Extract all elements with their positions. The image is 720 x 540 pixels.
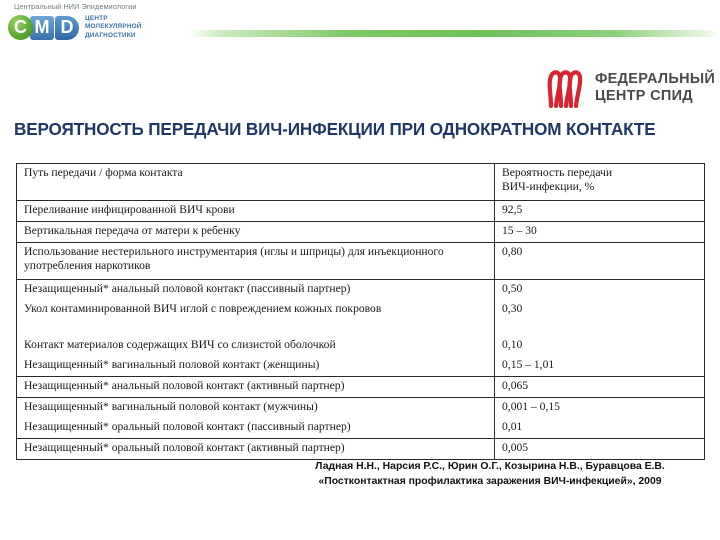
- aids-ribbon-icon: [545, 68, 587, 108]
- federal-aids-center-logo: ФЕДЕРАЛЬНЫЙ ЦЕНТР СПИД: [545, 68, 715, 108]
- cmd-logo-block: Центральный НИИ Эпидемиологии C M D ЦЕНТ…: [8, 2, 186, 52]
- citation-source: «Постконтактная профилактика заражения В…: [268, 474, 712, 489]
- table-row: Незащищенный* анальный половой контакт (…: [17, 280, 705, 301]
- column-header-route: Путь передачи / форма контакта: [17, 164, 495, 201]
- table-header-row: Путь передачи / форма контакта Вероятнос…: [17, 164, 705, 201]
- federal-center-text: ФЕДЕРАЛЬНЫЙ ЦЕНТР СПИД: [595, 71, 715, 105]
- cmd-letters: C M D: [8, 15, 79, 40]
- table-row: Укол контаминированной ВИЧ иглой с повре…: [17, 300, 705, 336]
- table-row: Контакт материалов содержащих ВИЧ со сли…: [17, 336, 705, 356]
- cell-probability: 0,01: [495, 418, 705, 439]
- table-row: Незащищенный* оральный половой контакт (…: [17, 418, 705, 439]
- cell-probability: 0,80: [495, 243, 705, 280]
- cell-probability: 92,5: [495, 201, 705, 222]
- cell-route: Вертикальная передача от матери к ребенк…: [17, 222, 495, 243]
- slide-canvas: Центральный НИИ Эпидемиологии C M D ЦЕНТ…: [0, 0, 720, 540]
- cell-probability: 0,001 – 0,15: [495, 398, 705, 419]
- cell-probability: 0,30: [495, 300, 705, 336]
- cmd-letter-m-icon: M: [30, 16, 54, 40]
- cell-route: Незащищенный* анальный половой контакт (…: [17, 377, 495, 398]
- cell-probability: 0,50: [495, 280, 705, 301]
- federal-center-line-1: ФЕДЕРАЛЬНЫЙ: [595, 71, 715, 88]
- citation-authors: Ладная Н.Н., Нарсия Р.С., Юрин О.Г., Коз…: [315, 461, 665, 472]
- cell-probability: 0,005: [495, 439, 705, 460]
- column-header-probability-line-2: ВИЧ-инфекции, %: [502, 180, 698, 194]
- page-title: ВЕРОЯТНОСТЬ ПЕРЕДАЧИ ВИЧ-ИНФЕКЦИИ ПРИ ОД…: [14, 119, 704, 139]
- cell-route: Контакт материалов содержащих ВИЧ со сли…: [17, 336, 495, 356]
- cmd-tagline-line-3: ДИАГНОСТИКИ: [85, 32, 142, 40]
- table-row: Использование нестерильного инструментар…: [17, 243, 705, 280]
- table-row: Незащищенный* оральный половой контакт (…: [17, 439, 705, 460]
- cell-route: Незащищенный* оральный половой контакт (…: [17, 418, 495, 439]
- green-divider-bar: [188, 30, 720, 37]
- cell-route: Незащищенный* вагинальный половой контак…: [17, 398, 495, 419]
- cell-route: Использование нестерильного инструментар…: [17, 243, 495, 280]
- institute-name: Центральный НИИ Эпидемиологии: [8, 2, 186, 12]
- table-row: Вертикальная передача от матери к ребенк…: [17, 222, 705, 243]
- cmd-letter-d-icon: D: [55, 16, 79, 40]
- cmd-tagline: ЦЕНТР МОЛЕКУЛЯРНОЙ ДИАГНОСТИКИ: [85, 15, 142, 40]
- cell-route: Укол контаминированной ВИЧ иглой с повре…: [17, 300, 495, 336]
- table-row: Незащищенный* анальный половой контакт (…: [17, 377, 705, 398]
- cell-probability: 15 – 30: [495, 222, 705, 243]
- cmd-letter-c-icon: C: [8, 15, 33, 40]
- cell-route: Незащищенный* анальный половой контакт (…: [17, 280, 495, 301]
- cell-probability: 0,065: [495, 377, 705, 398]
- cell-route: Переливание инфицированной ВИЧ крови: [17, 201, 495, 222]
- cell-probability: 0,15 – 1,01: [495, 356, 705, 377]
- column-header-probability: Вероятность передачи ВИЧ-инфекции, %: [495, 164, 705, 201]
- column-header-probability-line-1: Вероятность передачи: [502, 166, 612, 179]
- table-row: Переливание инфицированной ВИЧ крови 92,…: [17, 201, 705, 222]
- cell-route: Незащищенный* оральный половой контакт (…: [17, 439, 495, 460]
- cmd-logo-row: C M D ЦЕНТР МОЛЕКУЛЯРНОЙ ДИАГНОСТИКИ: [8, 15, 186, 40]
- federal-center-line-2: ЦЕНТР СПИД: [595, 88, 715, 105]
- source-citation: Ладная Н.Н., Нарсия Р.С., Юрин О.Г., Коз…: [268, 459, 712, 489]
- table-row: Незащищенный* вагинальный половой контак…: [17, 356, 705, 377]
- table-row: Незащищенный* вагинальный половой контак…: [17, 398, 705, 419]
- cell-probability: 0,10: [495, 336, 705, 356]
- cmd-tagline-line-2: МОЛЕКУЛЯРНОЙ: [85, 23, 142, 31]
- transmission-probability-table: Путь передачи / форма контакта Вероятнос…: [16, 163, 705, 460]
- cell-route: Незащищенный* вагинальный половой контак…: [17, 356, 495, 377]
- transmission-probability-table-wrap: Путь передачи / форма контакта Вероятнос…: [16, 163, 704, 460]
